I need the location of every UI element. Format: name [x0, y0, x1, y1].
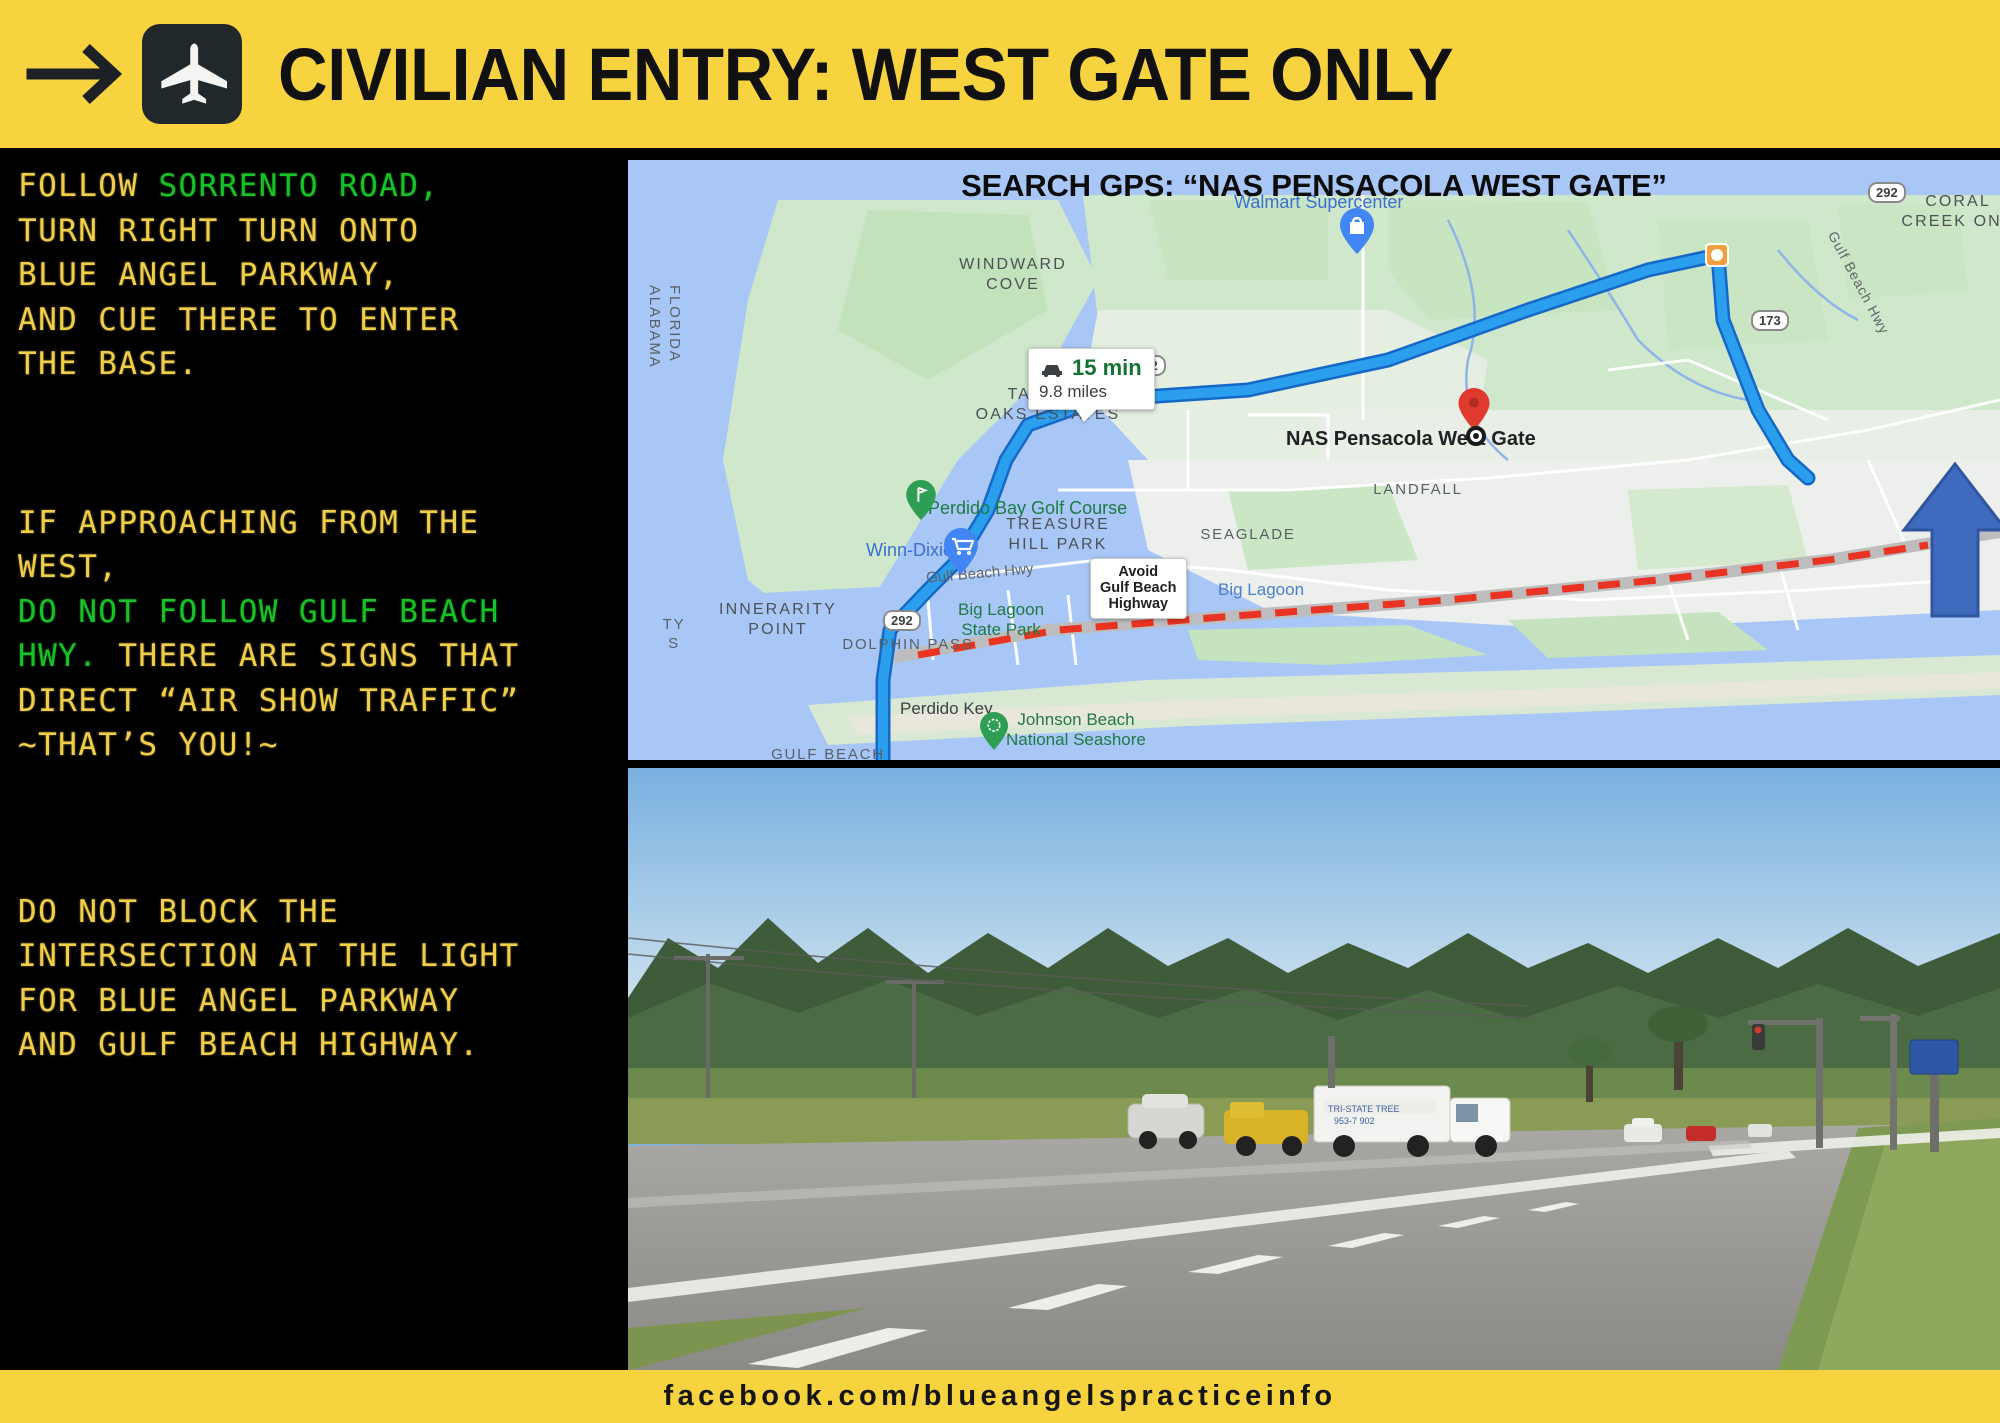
blue-up-arrow-icon [1900, 460, 2000, 620]
led-line: INTERSECTION AT THE LIGHT [18, 934, 618, 979]
led-gap-2 [18, 768, 618, 890]
arrow-right-icon [24, 22, 128, 126]
led-line: ~THAT’S YOU!~ [18, 723, 618, 768]
led-line: WEST, [18, 545, 618, 590]
road-shield-173: 173 [1751, 310, 1789, 331]
shopping-bag-icon[interactable] [1340, 208, 1374, 254]
led-seg-green: SORRENTO ROAD, [158, 168, 439, 204]
page-title: CIVILIAN ENTRY: WEST GATE ONLY [278, 32, 1453, 117]
airplane-icon [142, 24, 242, 124]
route-map[interactable]: SEARCH GPS: “NAS PENSACOLA WEST GATE” WI… [628, 160, 2000, 760]
led-gap-1 [18, 387, 618, 501]
led-seg: IF APPROACHING FROM THE [18, 505, 479, 541]
led-seg: AND CUE THERE TO ENTER [18, 302, 459, 338]
golf-icon[interactable] [906, 480, 936, 520]
led-block-directions: FOLLOW SORRENTO ROAD, TURN RIGHT TURN ON… [18, 164, 618, 387]
led-line: AND GULF BEACH HIGHWAY. [18, 1023, 618, 1068]
led-seg: DIRECT “AIR SHOW TRAFFIC” [18, 683, 520, 719]
map-pin-icon[interactable] [1458, 388, 1490, 430]
route-duration: 15 min [1072, 355, 1142, 381]
shopping-cart-icon[interactable] [944, 528, 978, 574]
led-block-west-approach-warning: IF APPROACHING FROM THE WEST, DO NOT FOL… [18, 501, 618, 768]
led-seg: ~THAT’S YOU!~ [18, 727, 279, 763]
led-seg: INTERSECTION AT THE LIGHT [18, 938, 520, 974]
footer-url[interactable]: facebook.com/blueangelspracticeinfo [664, 1380, 1337, 1413]
led-line: BLUE ANGEL PARKWAY, [18, 253, 618, 298]
roadway-photo: TRI-STATE TREE 953-7 902 [628, 768, 2000, 1370]
led-seg: DO NOT BLOCK THE [18, 894, 339, 930]
footer-banner: facebook.com/blueangelspracticeinfo [0, 1370, 2000, 1423]
led-line: THE BASE. [18, 342, 618, 387]
route-time-callout: 15 min 9.8 miles [1028, 348, 1155, 410]
led-seg: THE BASE. [18, 346, 199, 382]
road-shield-292: 292 [883, 610, 921, 631]
led-line: DO NOT BLOCK THE [18, 890, 618, 935]
led-line: FOLLOW SORRENTO ROAD, [18, 164, 618, 209]
led-line: HWY. THERE ARE SIGNS THAT [18, 634, 618, 679]
led-line: TURN RIGHT TURN ONTO [18, 209, 618, 254]
avoid-callout: Avoid Gulf Beach Highway [1090, 558, 1187, 619]
avoid-line-2: Gulf Beach [1100, 580, 1177, 596]
led-seg: THERE ARE SIGNS THAT [98, 638, 519, 674]
callout-tail [1075, 408, 1098, 422]
led-line: DO NOT FOLLOW GULF BEACH [18, 590, 618, 635]
led-seg: TURN RIGHT TURN ONTO [18, 213, 419, 249]
led-seg-green: HWY. [18, 638, 98, 674]
led-sign-panel: FOLLOW SORRENTO ROAD, TURN RIGHT TURN ON… [0, 148, 628, 1370]
header-banner: CIVILIAN ENTRY: WEST GATE ONLY [0, 0, 2000, 148]
avoid-line-1: Avoid [1100, 564, 1177, 580]
led-seg: AND GULF BEACH HIGHWAY. [18, 1027, 479, 1063]
car-icon [1039, 359, 1065, 377]
led-line: IF APPROACHING FROM THE [18, 501, 618, 546]
infographic-page: CIVILIAN ENTRY: WEST GATE ONLY FOLLOW SO… [0, 0, 2000, 1423]
led-line: FOR BLUE ANGEL PARKWAY [18, 979, 618, 1024]
led-block-intersection-warning: DO NOT BLOCK THE INTERSECTION AT THE LIG… [18, 890, 618, 1068]
roadway-photo-graphic: TRI-STATE TREE 953-7 902 [628, 768, 2000, 1370]
led-seg: FOR BLUE ANGEL PARKWAY [18, 983, 459, 1019]
svg-text:953-7 902: 953-7 902 [1334, 1116, 1375, 1126]
led-seg: FOLLOW [18, 168, 158, 204]
avoid-line-3: Highway [1100, 596, 1177, 612]
route-distance: 9.8 miles [1039, 382, 1142, 402]
map-title: SEARCH GPS: “NAS PENSACOLA WEST GATE” [628, 168, 2000, 204]
svg-text:TRI-STATE TREE: TRI-STATE TREE [1328, 1104, 1400, 1114]
led-seg: WEST, [18, 549, 118, 585]
led-seg: BLUE ANGEL PARKWAY, [18, 257, 399, 293]
led-line: DIRECT “AIR SHOW TRAFFIC” [18, 679, 618, 724]
led-line: AND CUE THERE TO ENTER [18, 298, 618, 343]
destination-dot-icon [1466, 426, 1486, 446]
led-seg-green: DO NOT FOLLOW GULF BEACH [18, 594, 500, 630]
park-icon[interactable] [980, 712, 1008, 750]
map-base-graphic [628, 160, 2000, 760]
